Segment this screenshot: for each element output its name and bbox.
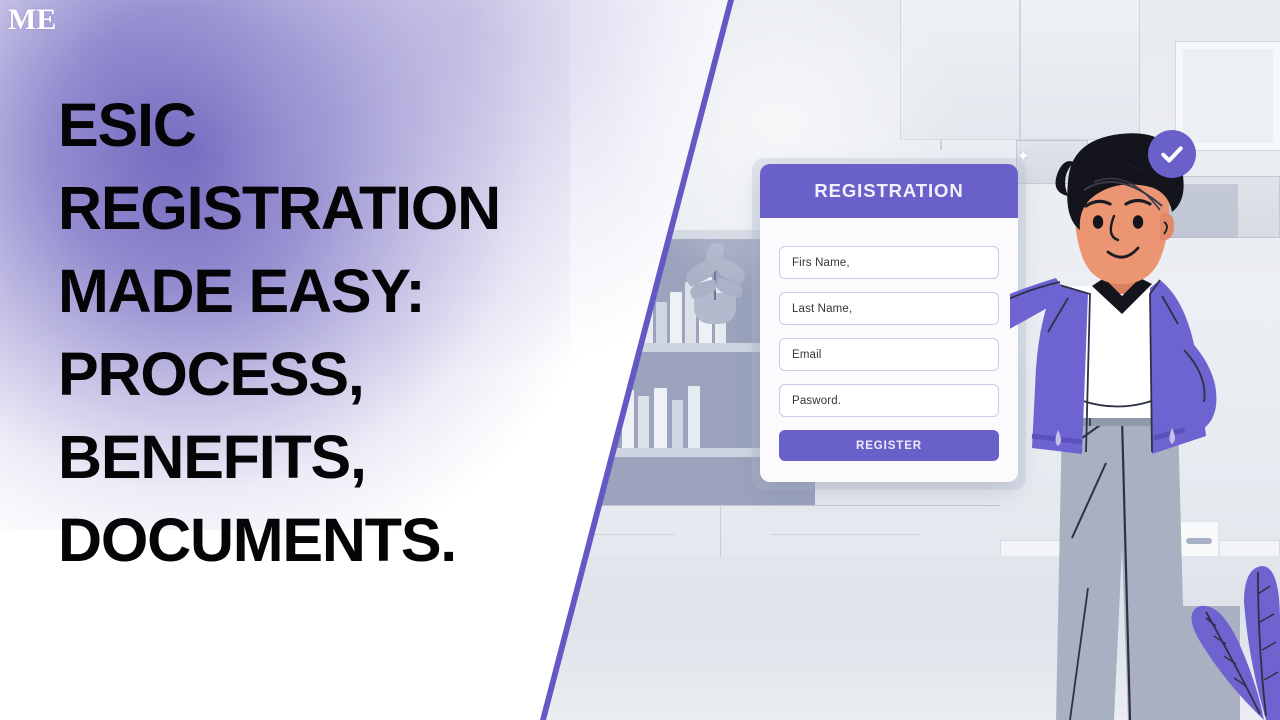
thumbnail-canvas: ME ESIC REGISTRATION MADE EASY: PROCESS,…: [0, 0, 1280, 720]
book: [688, 386, 700, 448]
wall-cabinet: [900, 0, 1020, 140]
form-title: REGISTRATION: [814, 180, 963, 202]
page-title: ESIC REGISTRATION MADE EASY: PROCESS, BE…: [58, 84, 678, 582]
register-button[interactable]: REGISTER: [779, 430, 999, 461]
headline-line-1: ESIC: [58, 84, 678, 167]
last-name-label: Last Name,: [792, 303, 852, 315]
first-name-label: Firs Name,: [792, 257, 850, 269]
headline-line-5: BENEFITS,: [58, 416, 678, 499]
headline-line-4: PROCESS,: [58, 333, 678, 416]
brand-logo[interactable]: ME: [8, 3, 56, 37]
corner-leaf-plant: [1178, 498, 1280, 720]
registration-form-card: REGISTRATION Firs Name, Last Name, Email…: [760, 164, 1018, 482]
email-field[interactable]: Email: [779, 338, 999, 371]
password-label: Pasword.: [792, 395, 841, 407]
headline-line-2: REGISTRATION: [58, 167, 678, 250]
headline-line-3: MADE EASY:: [58, 250, 678, 333]
check-icon: [1148, 130, 1196, 178]
form-header: REGISTRATION: [760, 164, 1018, 218]
first-name-field[interactable]: Firs Name,: [779, 246, 999, 279]
password-field[interactable]: Pasword.: [779, 384, 999, 417]
last-name-field[interactable]: Last Name,: [779, 292, 999, 325]
email-label: Email: [792, 349, 822, 361]
